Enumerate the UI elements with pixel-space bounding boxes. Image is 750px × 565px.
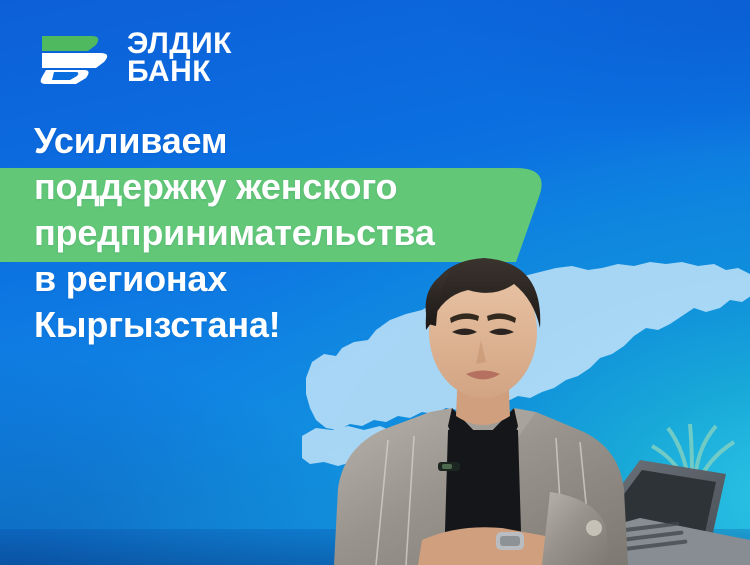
headline-line-2: поддержку женского — [34, 164, 554, 210]
headline-line-3: предпринимательства — [34, 210, 554, 256]
logo-word-eldik: ЭЛДИК — [127, 30, 232, 58]
headline-line-1: Усиливаем — [34, 118, 554, 164]
logo-wordmark: ЭЛДИК БАНК — [127, 30, 232, 86]
eldik-bank-logo[interactable]: ЭЛДИК БАНК — [36, 26, 232, 90]
headline-line-4: в регионах — [34, 256, 554, 302]
headline: Усиливаем поддержку женского предпринима… — [34, 118, 554, 348]
eldik-bank-promo-banner: ЭЛДИК БАНК Усиливаем поддержку женского … — [0, 0, 750, 565]
headline-line-5: Кыргызстана! — [34, 302, 554, 348]
bird-swoosh-icon — [36, 28, 114, 88]
logo-word-bank: БАНК — [127, 58, 232, 86]
